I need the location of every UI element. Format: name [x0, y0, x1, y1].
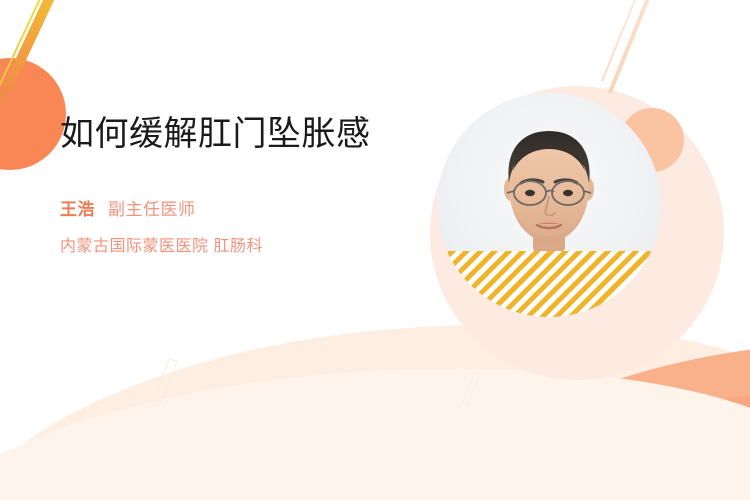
avatar [437, 93, 661, 317]
doctor-name: 王浩 [60, 195, 95, 220]
text-block: 如何缓解肛门坠胀感 王浩 副主任医师 内蒙古国际蒙医医院 肛肠科 [60, 113, 420, 256]
outlined-diagonal-stripe-icon [151, 358, 177, 406]
bottom-wave-salmon-secondary [456, 372, 750, 500]
outlined-diagonal-stripe-secondary-icon [462, 372, 480, 406]
orange-circle-decoration [0, 58, 66, 170]
bottom-wave-light [0, 339, 750, 500]
doctor-info-card: 如何缓解肛门坠胀感 王浩 副主任医师 内蒙古国际蒙医医院 肛肠科 [0, 0, 750, 500]
bottom-wave-salmon [307, 311, 750, 500]
yellow-diagonal-stripe-icon [0, 0, 46, 124]
page-title: 如何缓解肛门坠胀感 [60, 113, 420, 156]
doctor-portrait-image [437, 93, 661, 317]
faint-diagonal-stripe-secondary-icon [601, 0, 648, 82]
doctor-affiliation: 内蒙古国际蒙医医院 肛肠科 [60, 232, 420, 256]
bottom-wave-pale [0, 288, 750, 500]
faint-diagonal-stripe-icon [608, 0, 659, 94]
byline: 王浩 副主任医师 [60, 195, 420, 220]
orange-diagonal-stripe-icon [0, 0, 62, 100]
doctor-title: 副主任医师 [108, 195, 196, 220]
